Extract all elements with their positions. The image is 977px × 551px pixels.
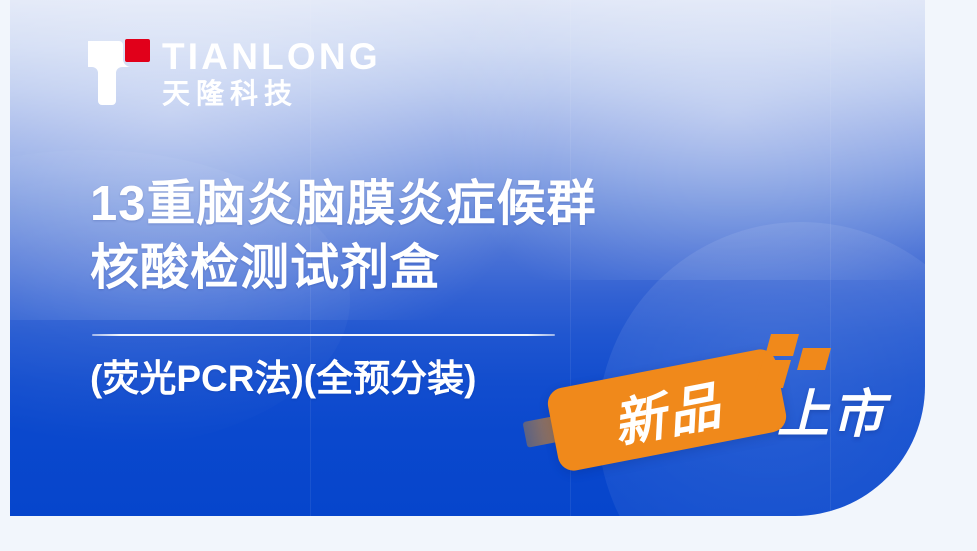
headline-line-2: 核酸检测试剂盒 xyxy=(90,240,597,296)
product-banner-card: TIANLONG 天隆科技 13重脑炎脑膜炎症候群 核酸检测试剂盒 (荧光PCR… xyxy=(10,0,925,516)
badge-suffix-label: 上市 xyxy=(777,372,887,447)
tianlong-t-mark-icon xyxy=(88,36,150,106)
brand-wordmark: TIANLONG 天隆科技 xyxy=(162,36,381,110)
product-headline: 13重脑炎脑膜炎症候群 核酸检测试剂盒 xyxy=(90,176,597,296)
banner-stage: TIANLONG 天隆科技 13重脑炎脑膜炎症候群 核酸检测试剂盒 (荧光PCR… xyxy=(0,0,977,551)
brand-logo: TIANLONG 天隆科技 xyxy=(88,36,381,110)
brand-name-cn: 天隆科技 xyxy=(162,78,381,110)
product-subtitle: (荧光PCR法)(全预分装) xyxy=(90,356,476,402)
brand-name-en: TIANLONG xyxy=(162,38,381,76)
headline-line-1: 13重脑炎脑膜炎症候群 xyxy=(90,177,597,231)
headline-divider xyxy=(92,334,555,336)
new-product-badge: 新品 上市 xyxy=(515,330,915,495)
